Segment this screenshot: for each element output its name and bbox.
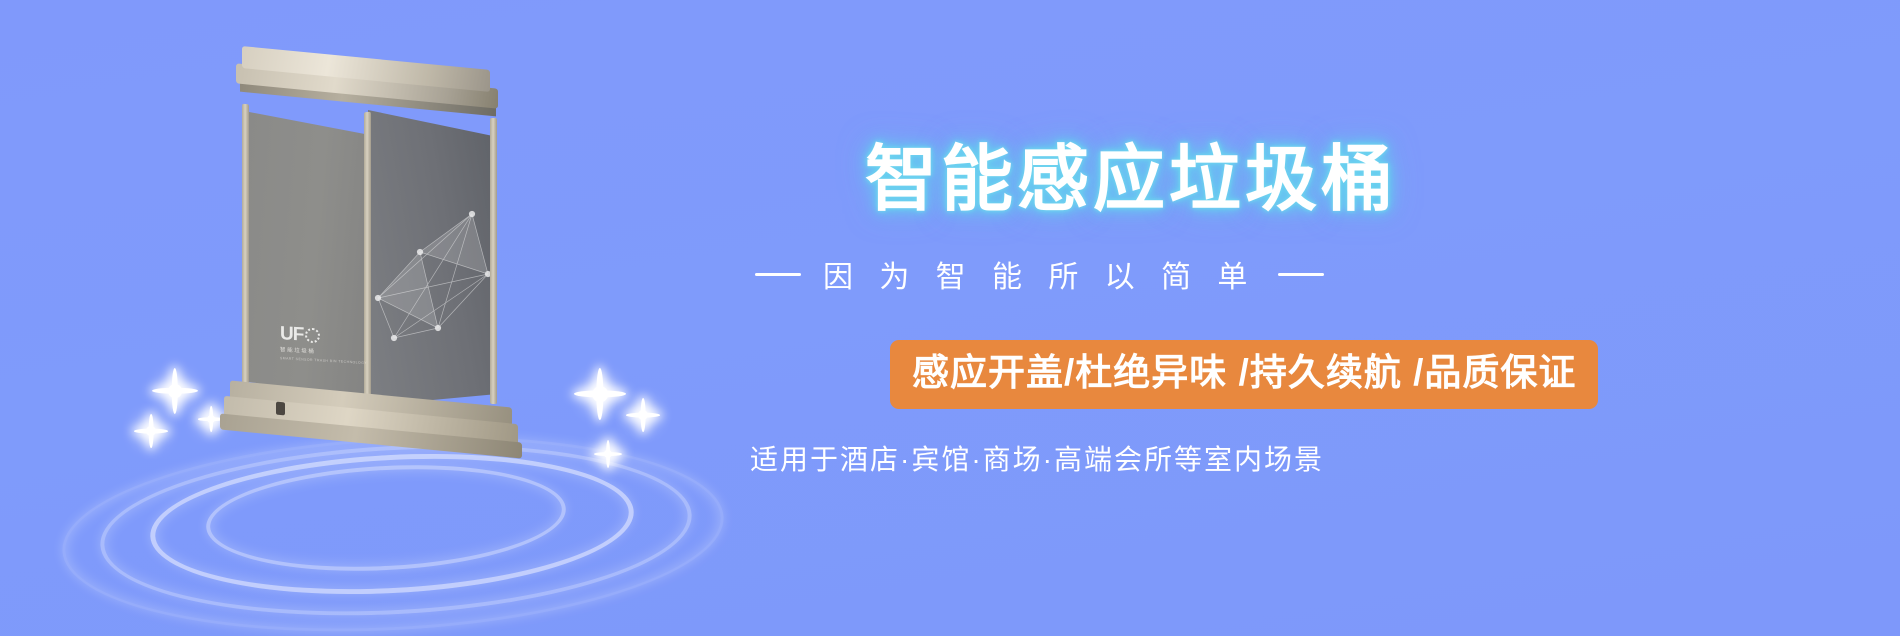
headline: 智能感应垃圾桶: [865, 120, 1397, 225]
bin-corner-post-center: [364, 112, 371, 410]
polygon-network-graphic: [368, 178, 498, 378]
subheadline: 因 为 智 能 所 以 简 单: [755, 252, 1324, 296]
subheadline-text: 因 为 智 能 所 以 简 单: [823, 252, 1256, 296]
ufo-brand-logo: UF 智能垃圾桶 SMART SENSOR TRASH BIN TECHNOLO…: [280, 324, 346, 364]
rule-right-icon: [1278, 273, 1324, 276]
rule-left-icon: [755, 273, 801, 276]
use-scenes-text: 适用于酒店·宾馆·商场·高端会所等室内场景: [750, 438, 1324, 478]
sparkle-icon: [574, 368, 626, 420]
bin-corner-post-right: [490, 118, 497, 404]
bin-corner-post-left: [242, 104, 249, 406]
bin-base-vent: [276, 402, 285, 416]
sparkle-icon: [594, 440, 622, 468]
logo-ring-icon: [305, 328, 320, 344]
product-banner: UF 智能垃圾桶 SMART SENSOR TRASH BIN TECHNOLO…: [0, 0, 1900, 636]
feature-badge: 感应开盖/杜绝异味 /持久续航 /品质保证: [890, 340, 1598, 409]
logo-chinese-name: 智能垃圾桶: [280, 345, 346, 357]
sparkle-icon: [134, 414, 168, 448]
sparkle-icon: [152, 368, 198, 414]
logo-letters: UF: [280, 324, 303, 344]
logo-wordmark: UF: [280, 324, 346, 347]
smart-trash-bin: UF 智能垃圾桶 SMART SENSOR TRASH BIN TECHNOLO…: [236, 58, 504, 418]
banner-copy: 智能感应垃圾桶 因 为 智 能 所 以 简 单 感应开盖/杜绝异味 /持久续航 …: [700, 0, 1900, 636]
sparkle-icon: [626, 398, 660, 432]
